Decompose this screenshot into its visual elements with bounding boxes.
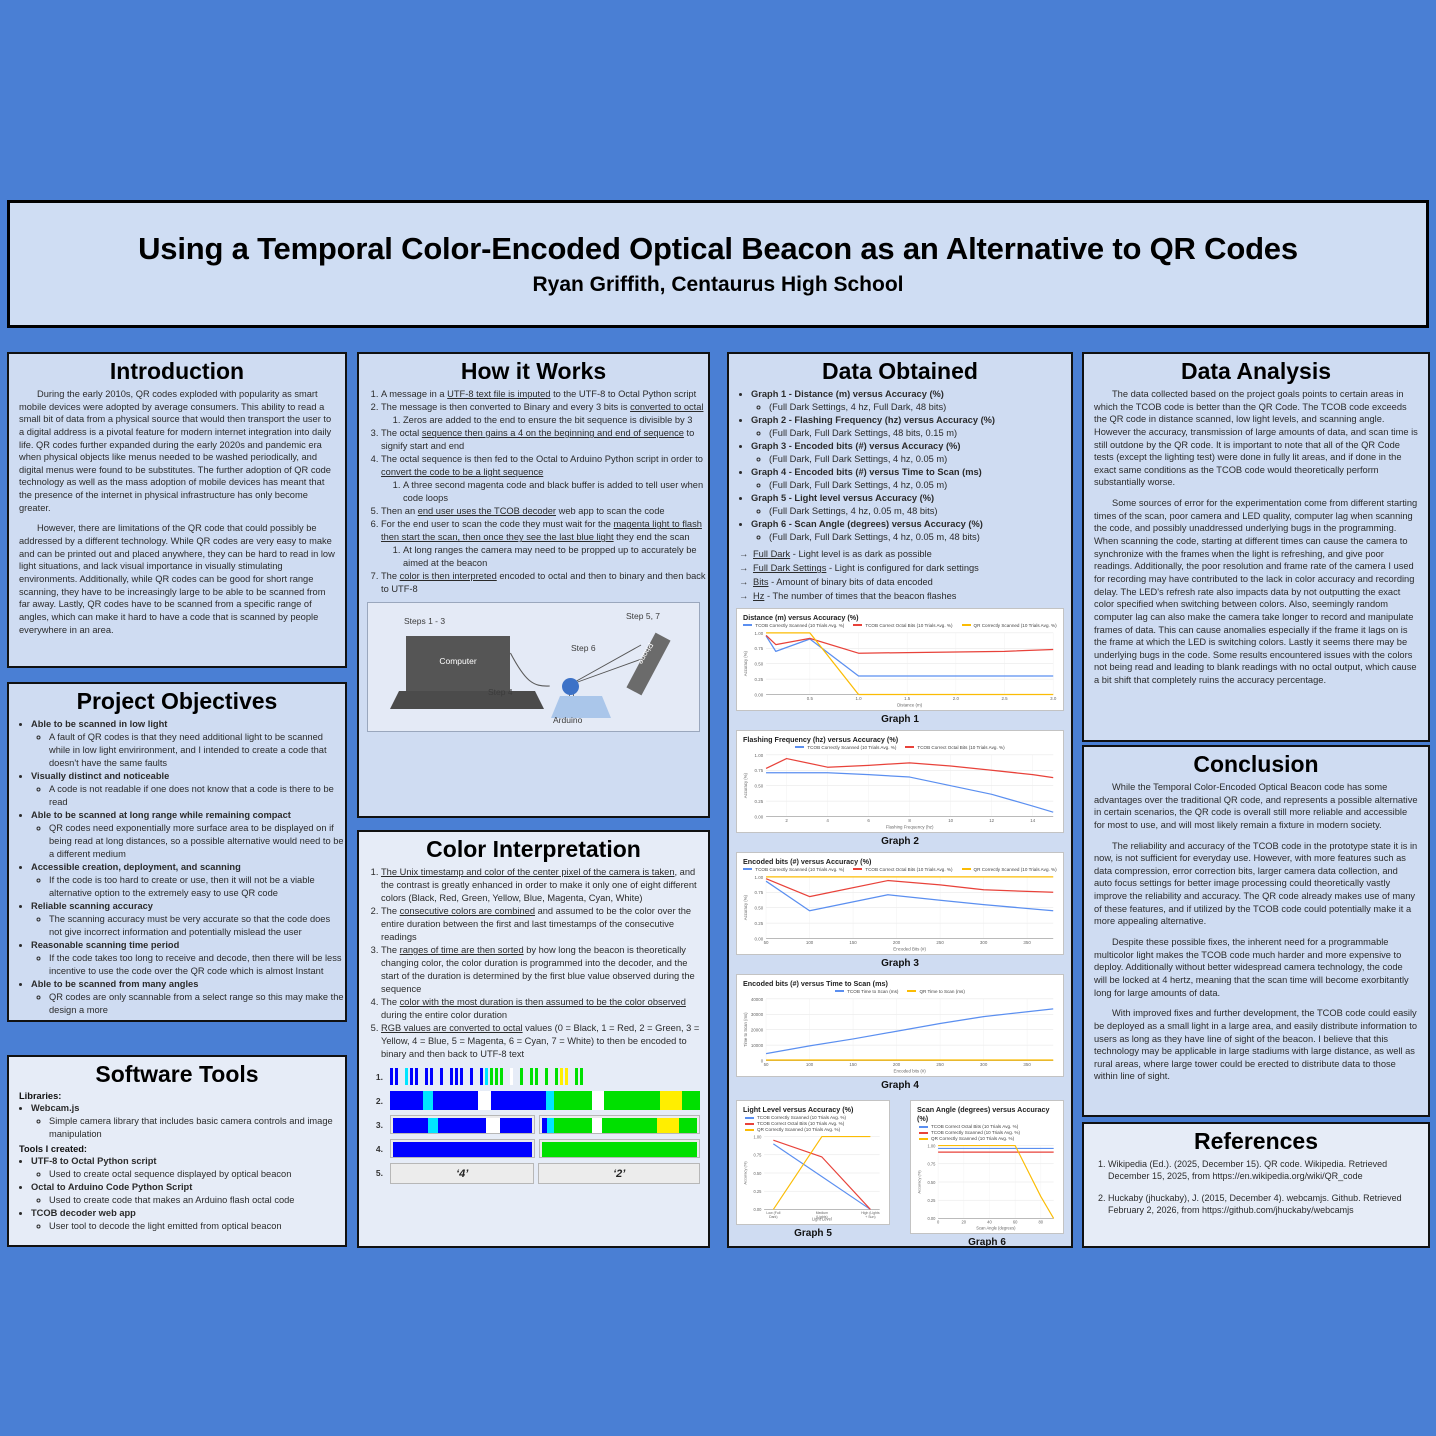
system-diagram: Steps 1 - 3 Computer Step 4 Arduino Step… [367,602,700,732]
graph-settings: (Full Dark, Full Dark Settings, 4 hz, 0.… [769,531,1071,544]
howitworks-heading: How it Works [359,358,708,385]
software-library-sublist: Simple camera library that includes basi… [31,1115,345,1141]
colorinterp-step-text: The color with the most duration is then… [381,997,686,1020]
objective-subitem: A code is not readable if one does not k… [49,783,345,809]
panel-color-interpretation: Color Interpretation The Unix timestamp … [357,830,710,1248]
svg-text:20000: 20000 [751,1028,764,1033]
color-tick [535,1068,538,1085]
objective-item: Accessible creation, deployment, and sca… [31,861,345,900]
legend-swatch [745,1129,754,1131]
svg-text:1.00: 1.00 [754,1134,763,1139]
strip-merged [390,1091,700,1110]
colorinterp-step: The color with the most duration is then… [381,996,708,1022]
legend-swatch [919,1132,928,1134]
colorinterp-step-text: The consecutive colors are combined and … [381,906,691,942]
howitworks-step: For the end user to scan the code they m… [381,518,708,570]
svg-text:350: 350 [1023,1062,1031,1067]
objective-label: Reliable scanning accuracy [31,901,153,911]
objectives-list: Able to be scanned in low lightA fault o… [9,718,345,1017]
svg-text:0.00: 0.00 [754,1207,763,1212]
chart-legend: TCOB Correctly Scanned (10 Trials Avg. %… [745,1115,885,1132]
howitworks-step-text: A message in a UTF-8 text file is impute… [381,389,696,399]
strip-sorted [390,1115,700,1134]
svg-text:0.50: 0.50 [754,1171,763,1176]
legend-label: TCOB Correct Octal Bits (10 Trials Avg. … [917,745,1004,750]
chart-container: Encoded bits (#) versus Accuracy (%)TCOB… [736,852,1064,955]
graph-name: Graph 6 [751,519,786,529]
objective-sublist: If the code is too hard to create or use… [31,874,345,900]
sorted-group-right [539,1115,700,1134]
howitworks-step: Then an end user uses the TCOB decoder w… [381,505,708,518]
howitworks-step-text: The color is then interpreted encoded to… [381,571,706,594]
definition-text: - Light is configured for dark settings [826,563,978,573]
legend-label: TCOB Correctly Scanned (10 Trials Avg. %… [755,623,844,628]
graph-settings: (Full Dark, Full Dark Settings, 48 bits,… [769,427,1071,440]
legend-item: QR Correctly Scanned (10 Trials Avg. %) [745,1127,840,1132]
legend-swatch [919,1138,928,1140]
graph-settings-list: (Full Dark, Full Dark Settings, 4 hz, 0.… [751,453,1071,466]
objective-sublist: A fault of QR codes is that they need ad… [31,731,345,770]
strip-row-number: 1. [367,1072,390,1082]
software-created-sublist: Used to create octal sequence displayed … [31,1168,345,1181]
graph-settings-list: (Full Dark Settings, 4 hz, Full Dark, 48… [751,401,1071,414]
dominant-group-right [539,1139,700,1158]
svg-text:0.50: 0.50 [928,1180,937,1185]
chart-container: Distance (m) versus Accuracy (%)TCOB Cor… [736,608,1064,711]
legend-swatch [835,990,844,992]
software-created-subitem: Used to create code that makes an Arduin… [49,1194,345,1207]
diagram-label-step-6: Step 6 [571,643,596,653]
software-libraries-list: Webcam.jsSimple camera library that incl… [9,1102,345,1141]
strip-row-number: 2. [367,1096,390,1106]
panel-data-analysis: Data Analysis The data collected based o… [1082,352,1430,742]
software-library-item: Webcam.jsSimple camera library that incl… [31,1102,345,1141]
software-created-item: UTF-8 to Octal Python scriptUsed to crea… [31,1155,345,1181]
color-segment [423,1091,433,1110]
color-segment [438,1118,486,1133]
legend-item: TCOB Correct Octal Bits (10 Trials Avg. … [853,867,952,872]
software-created-list: UTF-8 to Octal Python scriptUsed to crea… [9,1155,345,1233]
definition-item: Full Dark Settings - Light is configured… [739,562,1071,576]
objective-sublist: The scanning accuracy must be very accur… [31,913,345,939]
color-tick [580,1068,583,1085]
software-created-label: Octal to Arduino Code Python Script [31,1182,192,1192]
svg-text:1.00: 1.00 [755,875,764,880]
software-created-item: TCOB decoder web appUser tool to decode … [31,1207,345,1233]
software-library-label: Webcam.js [31,1103,79,1113]
color-tick [400,1068,403,1085]
references-heading: References [1084,1128,1428,1155]
svg-text:40: 40 [987,1219,992,1224]
color-tick [440,1068,443,1085]
objective-label: Able to be scanned at long range while r… [31,810,291,820]
objective-item: Able to be scanned from many anglesQR co… [31,978,345,1017]
strip-row-number: 3. [367,1120,390,1130]
strip-ticks [390,1067,700,1086]
definition-item: Bits - Amount of binary bits of data enc… [739,576,1071,590]
svg-text:10000: 10000 [751,1043,764,1048]
howitworks-substeps: Zeros are added to the end to ensure the… [381,414,708,427]
introduction-paragraph-1: During the early 2010s, QR codes explode… [19,388,335,514]
software-libraries-heading: Libraries: [19,1091,345,1101]
legend-item: TCOB Correct Octal Bits (10 Trials Avg. … [919,1124,1018,1129]
color-segment [604,1091,659,1110]
graph-name: Graph 3 [751,441,786,451]
howitworks-step: A message in a UTF-8 text file is impute… [381,388,708,401]
svg-text:Dark): Dark) [769,1215,777,1219]
svg-text:80: 80 [1039,1219,1044,1224]
colorinterp-step-text: The Unix timestamp and color of the cent… [381,867,697,903]
color-segment [554,1091,592,1110]
chart-series-line [766,879,1053,897]
color-tick [520,1068,523,1085]
chart-caption: Graph 1 [729,714,1071,725]
svg-text:Time to Scan (ms): Time to Scan (ms) [743,1012,748,1047]
legend-label: QR Time to Scan (ms) [919,989,964,994]
charts-row-bottom: Light Level versus Accuracy (%)TCOB Corr… [729,1096,1071,1248]
color-segment [602,1118,657,1133]
howitworks-step: The octal sequence then gains a 4 on the… [381,427,708,453]
conclusion-heading: Conclusion [1084,751,1428,778]
definition-text: - Light level is as dark as possible [790,549,932,559]
legend-swatch [919,1126,928,1128]
howitworks-substeps: At long ranges the camera may need to be… [381,544,708,570]
svg-text:1.5: 1.5 [904,696,911,701]
software-library-subitem: Simple camera library that includes basi… [49,1115,345,1141]
chart-series-line [766,1009,1053,1054]
svg-text:40000: 40000 [751,997,764,1002]
legend-swatch [743,868,752,870]
legend-swatch [795,746,804,748]
graph-name: Graph 2 [751,415,786,425]
color-tick [485,1068,488,1085]
legend-swatch [962,868,971,870]
colorinterp-step: The Unix timestamp and color of the cent… [381,866,708,905]
software-created-sublist: Used to create code that makes an Arduin… [31,1194,345,1207]
objective-item: Visually distinct and noticeableA code i… [31,770,345,809]
color-tick [510,1068,513,1085]
chart-legend: TCOB Correctly Scanned (10 Trials Avg. %… [741,745,1059,750]
graph-name: Graph 5 [751,493,786,503]
svg-text:0.75: 0.75 [755,646,764,651]
conclusion-paragraph-3: Despite these possible fixes, the inhere… [1094,936,1418,999]
chart-title: Encoded bits (#) versus Accuracy (%) [743,857,1059,866]
legend-label: QR Correctly Scanned (10 Trials Avg. %) [757,1127,840,1132]
page-subtitle: Ryan Griffith, Centaurus High School [532,273,903,297]
svg-text:1.0: 1.0 [855,696,862,701]
objective-subitem: If the code takes too long to receive an… [49,952,345,978]
howitworks-substep: A three second magenta code and black bu… [403,479,708,505]
objective-item: Able to be scanned at long range while r… [31,809,345,861]
legend-label: TCOB Correctly Scanned (10 Trials Avg. %… [755,867,844,872]
legend-item: TCOB Correctly Scanned (10 Trials Avg. %… [743,867,844,872]
colorinterp-heading: Color Interpretation [359,836,708,863]
svg-text:50: 50 [764,940,769,945]
svg-text:0.50: 0.50 [755,784,764,789]
dataobtained-graph-item: Graph 2 - Flashing Frequency (hz) versus… [751,414,1071,440]
strip-octal: ‘4’‘2’ [390,1163,700,1182]
objective-subitem: The scanning accuracy must be very accur… [49,913,345,939]
legend-label: TCOB Correctly Scanned (10 Trials Avg. %… [807,745,896,750]
objective-item: Reliable scanning accuracyThe scanning a… [31,900,345,939]
color-tick [415,1068,418,1085]
dataanalysis-heading: Data Analysis [1084,358,1428,385]
svg-text:250: 250 [936,1062,944,1067]
svg-text:8: 8 [908,818,911,823]
colorinterp-step-text: RGB values are converted to octal values… [381,1023,699,1059]
strip-row: 3. [367,1115,700,1134]
color-tick [495,1068,498,1085]
color-tick [550,1068,553,1085]
legend-swatch [743,624,752,626]
chart-caption: Graph 4 [729,1080,1071,1091]
definition-item: Hz - The number of times that the beacon… [739,590,1071,604]
color-tick [405,1068,408,1085]
chart-title: Encoded bits (#) versus Time to Scan (ms… [743,979,1059,988]
color-tick [480,1068,483,1085]
dataanalysis-body: The data collected based on the project … [1084,388,1428,687]
graph-settings: (Full Dark, Full Dark Settings, 4 hz, 0.… [769,479,1071,492]
objective-label: Reasonable scanning time period [31,940,179,950]
legend-swatch [962,624,971,626]
objective-label: Accessible creation, deployment, and sca… [31,862,241,872]
svg-text:0.00: 0.00 [755,692,764,697]
introduction-heading: Introduction [9,358,345,385]
chart-legend: TCOB Correctly Scanned (10 Trials Avg. %… [741,623,1059,628]
svg-text:100: 100 [806,1062,814,1067]
svg-text:60: 60 [1013,1219,1018,1224]
conclusion-paragraph-2: The reliability and accuracy of the TCOB… [1094,840,1418,928]
howitworks-step: The octal sequence is then fed to the Oc… [381,453,708,505]
graph-settings: (Full Dark Settings, 4 hz, 0.05 m, 48 bi… [769,505,1071,518]
dataobtained-definitions: Full Dark - Light level is as dark as po… [729,548,1071,604]
chart-container: Light Level versus Accuracy (%)TCOB Corr… [736,1100,890,1225]
chart-series-line [773,1144,870,1210]
color-tick [490,1068,493,1085]
howitworks-substeps: A three second magenta code and black bu… [381,479,708,505]
svg-text:Light Level: Light Level [812,1217,832,1222]
sorted-group-left [390,1115,535,1134]
color-tick [410,1068,413,1085]
panel-software-tools: Software Tools Libraries: Webcam.jsSimpl… [7,1055,347,1247]
color-tick [460,1068,463,1085]
color-segment [592,1118,602,1133]
color-segment [657,1118,680,1133]
svg-text:250: 250 [936,940,944,945]
conclusion-paragraph-1: While the Temporal Color-Encoded Optical… [1094,781,1418,832]
svg-text:200: 200 [893,940,901,945]
dataobtained-graph-item: Graph 1 - Distance (m) versus Accuracy (… [751,388,1071,414]
color-tick [505,1068,508,1085]
legend-item: TCOB Correctly Scanned (10 Trials Avg. %… [745,1115,846,1120]
objective-label: Visually distinct and noticeable [31,771,169,781]
introduction-body: During the early 2010s, QR codes explode… [9,388,345,636]
howitworks-step-text: Then an end user uses the TCOB decoder w… [381,506,665,516]
legend-label: QR Correctly Scanned (10 Trials Avg. %) [974,623,1057,628]
color-tick [450,1068,453,1085]
chart-legend: TCOB Time to Scan (ms)QR Time to Scan (m… [741,989,1059,994]
legend-swatch [853,624,862,626]
svg-text:6: 6 [867,818,870,823]
objective-subitem: If the code is too hard to create or use… [49,874,345,900]
octal-value-right: ‘2’ [538,1163,700,1184]
svg-text:350: 350 [1023,940,1031,945]
strip-row-number: 5. [367,1168,390,1178]
svg-text:150: 150 [849,940,857,945]
reference-item: Huckaby (jhuckaby), J. (2015, December 4… [1108,1192,1428,1217]
legend-item: TCOB Correct Octal Bits (10 Trials Avg. … [853,623,952,628]
howitworks-step-text: The octal sequence then gains a 4 on the… [381,428,694,451]
graph-name: Graph 1 [751,389,786,399]
chart-title: Light Level versus Accuracy (%) [743,1105,885,1114]
objective-sublist: QR codes need exponentially more surface… [31,822,345,861]
color-tick [455,1068,458,1085]
svg-text:Accuracy (%): Accuracy (%) [743,650,748,676]
color-tick [465,1068,468,1085]
legend-label: TCOB Correct Octal Bits (10 Trials Avg. … [865,867,952,872]
graph-settings: (Full Dark Settings, 4 hz, Full Dark, 48… [769,401,1071,414]
color-tick [395,1068,398,1085]
svg-text:Distance (m): Distance (m) [897,703,923,708]
legend-swatch [907,990,916,992]
svg-text:1.00: 1.00 [755,631,764,636]
graph-desc: - Encoded bits (#) versus Accuracy (%) [786,441,960,451]
diagram-label-arduino: Arduino [553,715,582,725]
chart-svg: 0.000.250.500.751.000.51.01.52.02.53.0Ac… [741,629,1059,708]
svg-text:14: 14 [1030,818,1035,823]
color-tick [560,1068,563,1085]
graph-settings: (Full Dark, Full Dark Settings, 4 hz, 0.… [769,453,1071,466]
color-segment [546,1091,554,1110]
chart-svg: 0100002000030000400005010015020025030035… [741,995,1059,1074]
objective-item: Able to be scanned in low lightA fault o… [31,718,345,770]
colorinterp-steps-list: The Unix timestamp and color of the cent… [359,866,708,1061]
colorinterp-step: RGB values are converted to octal values… [381,1022,708,1061]
panel-data-obtained: Data Obtained Graph 1 - Distance (m) ver… [727,352,1073,1248]
chart-caption: Graph 6 [903,1237,1071,1248]
definition-term: Full Dark Settings [753,563,826,573]
svg-text:0.25: 0.25 [755,677,764,682]
color-tick [570,1068,573,1085]
svg-text:1.00: 1.00 [755,753,764,758]
svg-text:0: 0 [937,1219,940,1224]
graph-desc: - Flashing Frequency (hz) versus Accurac… [786,415,995,425]
colorinterp-step: The ranges of time are then sorted by ho… [381,944,708,996]
software-created-subitem: User tool to decode the light emitted fr… [49,1220,345,1233]
software-created-subitem: Used to create octal sequence displayed … [49,1168,345,1181]
strip-row: 5.‘4’‘2’ [367,1163,700,1182]
svg-text:Accuracy (%): Accuracy (%) [742,1161,747,1185]
chart-container: Flashing Frequency (hz) versus Accuracy … [736,730,1064,833]
svg-text:0.00: 0.00 [755,814,764,819]
dataobtained-graph-list: Graph 1 - Distance (m) versus Accuracy (… [729,388,1071,544]
color-segment [433,1091,478,1110]
strip-row: 1. [367,1067,700,1086]
panel-conclusion: Conclusion While the Temporal Color-Enco… [1082,745,1430,1117]
dataanalysis-paragraph-2: Some sources of error for the experiment… [1094,497,1418,687]
color-segment [679,1118,697,1133]
svg-text:Accuracy (%): Accuracy (%) [743,773,748,799]
svg-text:0.00: 0.00 [755,936,764,941]
svg-text:300: 300 [980,940,988,945]
color-tick [530,1068,533,1085]
poster-title-banner: Using a Temporal Color-Encoded Optical B… [7,200,1429,328]
references-list: Wikipedia (Ed.). (2025, December 15). QR… [1084,1158,1428,1217]
color-tick [540,1068,543,1085]
dataobtained-graph-item: Graph 4 - Encoded bits (#) versus Time t… [751,466,1071,492]
graph-name: Graph 4 [751,467,786,477]
color-tick [430,1068,433,1085]
color-tick [525,1068,528,1085]
svg-text:150: 150 [849,1062,857,1067]
color-tick [420,1068,423,1085]
color-tick [555,1068,558,1085]
legend-swatch [745,1123,754,1125]
svg-text:0.75: 0.75 [928,1162,937,1167]
svg-text:Scan Angle (degrees): Scan Angle (degrees) [976,1226,1016,1231]
objective-label: Able to be scanned from many angles [31,979,198,989]
dataanalysis-paragraph-1: The data collected based on the project … [1094,388,1418,489]
objective-item: Reasonable scanning time periodIf the co… [31,939,345,978]
svg-text:12: 12 [989,818,994,823]
colorinterp-step: The consecutive colors are combined and … [381,905,708,944]
colorinterp-step-text: The ranges of time are then sorted by ho… [381,945,695,994]
svg-text:4: 4 [826,818,829,823]
legend-swatch [905,746,914,748]
panel-introduction: Introduction During the early 2010s, QR … [7,352,347,668]
howitworks-step-text: For the end user to scan the code they m… [381,519,702,542]
svg-text:0.25: 0.25 [755,921,764,926]
svg-text:0.50: 0.50 [755,906,764,911]
software-created-heading: Tools I created: [19,1144,345,1154]
legend-label: TCOB Time to Scan (ms) [847,989,898,994]
legend-label: TCOB Correctly Scanned (10 Trials Avg. %… [757,1115,846,1120]
svg-text:+ Sun): + Sun) [865,1215,875,1219]
dataobtained-graph-item: Graph 5 - Light level versus Accuracy (%… [751,492,1071,518]
legend-item: QR Correctly Scanned (10 Trials Avg. %) [962,867,1057,872]
svg-text:30000: 30000 [751,1012,764,1017]
conclusion-body: While the Temporal Color-Encoded Optical… [1084,781,1428,1083]
svg-text:1.00: 1.00 [928,1143,937,1148]
svg-text:2.0: 2.0 [953,696,960,701]
howitworks-step: The message is then converted to Binary … [381,401,708,427]
color-decoding-strips: 1.2.3.4.5.‘4’‘2’ [367,1067,700,1182]
graph-desc: - Light level versus Accuracy (%) [786,493,934,503]
panel-project-objectives: Project Objectives Able to be scanned in… [7,682,347,1022]
definition-term: Hz [753,591,764,601]
page-title: Using a Temporal Color-Encoded Optical B… [138,231,1298,267]
svg-text:3.0: 3.0 [1050,696,1057,701]
graph-desc: - Encoded bits (#) versus Time to Scan (… [786,467,982,477]
howitworks-step: The color is then interpreted encoded to… [381,570,708,596]
graph-settings-list: (Full Dark, Full Dark Settings, 48 bits,… [751,427,1071,440]
legend-swatch [745,1117,754,1119]
chart-legend: TCOB Correct Octal Bits (10 Trials Avg. … [919,1124,1059,1141]
svg-text:300: 300 [980,1062,988,1067]
svg-text:0.00: 0.00 [928,1216,937,1221]
color-segment [428,1118,439,1133]
dataobtained-graph-item: Graph 3 - Encoded bits (#) versus Accura… [751,440,1071,466]
legend-item: QR Correctly Scanned (10 Trials Avg. %) [962,623,1057,628]
chart-legend: TCOB Correctly Scanned (10 Trials Avg. %… [741,867,1059,872]
legend-item: QR Correctly Scanned (10 Trials Avg. %) [919,1136,1014,1141]
dataobtained-graph-item: Graph 6 - Scan Angle (degrees) versus Ac… [751,518,1071,544]
legend-label: QR Correctly Scanned (10 Trials Avg. %) [974,867,1057,872]
chart-container: Encoded bits (#) versus Time to Scan (ms… [736,974,1064,1077]
svg-text:50: 50 [764,1062,769,1067]
svg-text:0.25: 0.25 [928,1198,937,1203]
chart-svg: 0.000.250.500.751.00Low (FullDark)Medium… [741,1133,885,1222]
